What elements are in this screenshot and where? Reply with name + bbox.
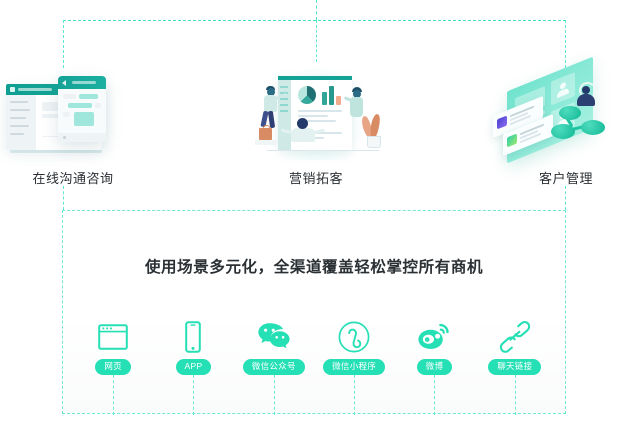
connector-drop-left (63, 20, 64, 68)
briefcase (259, 128, 272, 140)
plant-pot (367, 136, 381, 148)
connector-drop-middle (316, 20, 317, 62)
wechat-miniprogram-icon (317, 319, 391, 355)
channel-item-webpage[interactable]: 网页 (76, 319, 150, 375)
conversation-list (6, 95, 36, 150)
person-center-head (297, 118, 308, 129)
weibo-icon (397, 319, 471, 355)
chat-windows-illustration (0, 62, 158, 162)
person-center-body (291, 128, 315, 142)
channel-connector (113, 375, 114, 415)
list-item (10, 117, 26, 119)
browser-window-icon (76, 319, 150, 355)
wechat-icon (237, 319, 311, 355)
sidebar-tick (280, 110, 288, 112)
channel-connector (434, 375, 435, 415)
feature-label: 在线沟通咨询 (0, 168, 158, 187)
channel-item-app[interactable]: APP (156, 319, 230, 375)
bar (336, 96, 341, 105)
dashboard-board (278, 76, 352, 150)
channel-item-wechat-official[interactable]: 微信公众号 (237, 319, 311, 375)
channel-item-wechat-miniprogram[interactable]: 微信小程序 (317, 319, 391, 375)
channel-connector (193, 375, 194, 415)
list-item (10, 101, 28, 103)
sidebar-tick (280, 98, 288, 100)
feature-marketing: 营销拓客 (231, 62, 401, 187)
connector-horizontal-bar (63, 20, 566, 21)
channel-label: APP (176, 359, 212, 375)
list-item (10, 109, 30, 111)
board-text-line (298, 110, 342, 112)
connector-leg-left (63, 186, 64, 210)
incoming-bubble (95, 103, 101, 108)
incoming-bubble (63, 112, 70, 117)
phone-titlebar (58, 76, 106, 89)
channel-label: 聊天链接 (488, 359, 541, 375)
chain-link-icon (478, 319, 552, 355)
channel-label: 微信小程序 (323, 359, 385, 375)
board-sidebar (278, 80, 291, 150)
bar (329, 86, 334, 105)
feature-customer-management: 客户管理 (481, 62, 641, 187)
board-tile (551, 72, 575, 106)
step-platform (255, 140, 277, 145)
sidebar-tick (280, 104, 288, 106)
plant-leaf (369, 113, 382, 138)
user-badge-figure (577, 86, 595, 106)
board-text-line (298, 115, 328, 117)
marketing-dashboard-illustration (231, 62, 401, 162)
card-logo (497, 115, 507, 129)
channel-label: 微信公众号 (243, 359, 305, 375)
network-node (581, 120, 605, 135)
phone-title-placeholder (72, 81, 96, 84)
bar-chart (322, 86, 344, 105)
feature-online-consult: 在线沟通咨询 (0, 62, 158, 187)
figure-body (577, 94, 595, 106)
connector-stem-top (316, 0, 317, 20)
titlebar-text-placeholder (18, 88, 52, 91)
pie-chart (298, 86, 316, 104)
channel-connector (354, 375, 355, 415)
card-logo (507, 133, 517, 147)
outgoing-image-bubble (74, 112, 94, 126)
avatar (10, 87, 15, 92)
list-item (10, 133, 24, 135)
input-dot-icon (63, 136, 66, 139)
channel-item-weibo[interactable]: 微博 (397, 319, 471, 375)
list-item (10, 125, 29, 127)
figure-head (582, 86, 590, 94)
bar (322, 92, 327, 105)
channel-list: 网页 APP (73, 319, 555, 375)
channel-coverage-panel: 使用场景多元化，全渠道覆盖轻松掌控所有商机 网页 (62, 210, 566, 414)
channel-item-chat-link[interactable]: 聊天链接 (478, 319, 552, 375)
feature-label: 客户管理 (481, 168, 641, 187)
outgoing-bubble (79, 94, 98, 99)
network-node (551, 124, 575, 139)
channel-label: 网页 (95, 359, 131, 375)
channel-label: 微博 (417, 359, 453, 375)
connector-leg-right (565, 186, 566, 210)
sidebar-tick (280, 86, 288, 88)
channel-connector (515, 375, 516, 415)
customer-network-illustration (481, 62, 641, 162)
mobile-chat-window (58, 76, 106, 142)
phone-input-bar (58, 133, 106, 142)
feature-label: 营销拓客 (231, 168, 401, 187)
panel-headline: 使用场景多元化，全渠道覆盖轻松掌控所有商机 (63, 255, 565, 277)
connector-drop-right (565, 20, 566, 68)
ground-line (267, 150, 379, 151)
mobile-phone-icon (156, 319, 230, 355)
network-node (559, 106, 581, 120)
incoming-bubble (63, 94, 76, 99)
back-arrow-icon (62, 80, 66, 86)
user-icon (556, 79, 570, 99)
channel-connector (274, 375, 275, 415)
outgoing-bubble (68, 103, 92, 108)
